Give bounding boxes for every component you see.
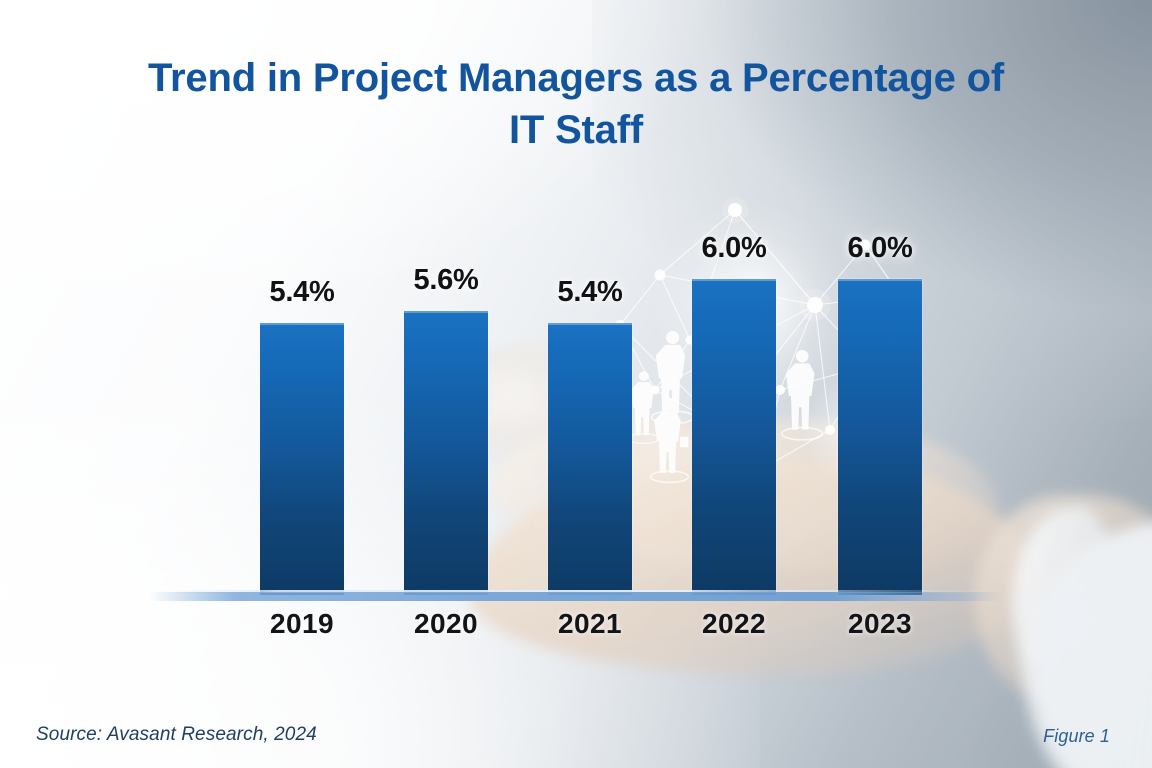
bar-value-2020: 5.6%	[381, 264, 511, 297]
source-note: Source: Avasant Research, 2024	[36, 724, 317, 746]
category-label-2022: 2022	[669, 608, 799, 640]
chart-title-line-2: IT Staff	[509, 108, 643, 152]
category-label-2021: 2021	[525, 608, 655, 640]
chart-title: Trend in Project Managers as a Percentag…	[76, 52, 1076, 156]
bar-value-2022: 6.0%	[669, 232, 799, 265]
category-label-2019: 2019	[237, 608, 367, 640]
figure-canvas: 5.4% 5.6% 5.4% 6.0% 6.0% 2019 2020 2021 …	[0, 0, 1152, 768]
bar-value-2023: 6.0%	[815, 232, 945, 265]
chart-title-line-1: Trend in Project Managers as a Percentag…	[148, 56, 1004, 100]
bar-value-2019: 5.4%	[237, 276, 367, 309]
bar-2019	[260, 323, 344, 595]
bar-2020	[404, 311, 488, 595]
category-label-2020: 2020	[381, 608, 511, 640]
bar-2023	[838, 279, 922, 595]
bar-2022	[692, 279, 776, 595]
figure-number: Figure 1	[1043, 726, 1110, 747]
bar-2021	[548, 323, 632, 595]
category-label-2023: 2023	[815, 608, 945, 640]
chart-baseline	[150, 592, 1002, 601]
bar-value-2021: 5.4%	[525, 276, 655, 309]
